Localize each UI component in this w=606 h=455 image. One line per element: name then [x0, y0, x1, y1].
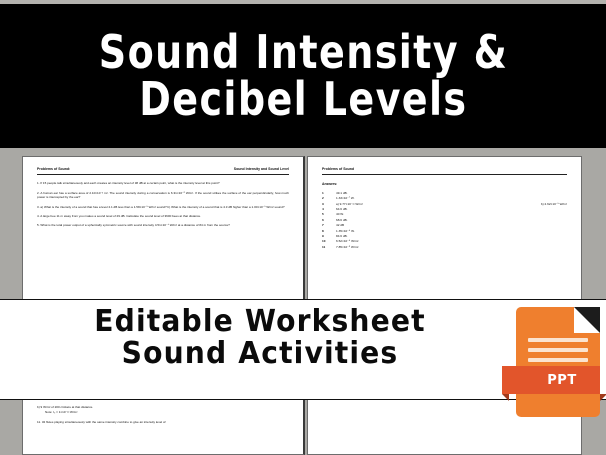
answer-row: 11 7.85×10⁻⁵ W/m² — [322, 245, 567, 250]
ppt-ribbon-shadow-right — [600, 394, 606, 401]
answer-page-header: Problems of Sound — [322, 167, 567, 175]
ppt-file-icon: PPT — [516, 307, 600, 417]
poster-title-line-1: Sound Intensity & — [98, 30, 507, 75]
worksheet-bottom-note: Note: I₀ = 1×10⁻¹² W/m² — [45, 410, 289, 415]
worksheet-question: 2. A human ear has a surface area of 2.1… — [37, 191, 289, 200]
worksheet-header-left: Problems of Sound: — [37, 167, 70, 172]
worksheet-page-left-bottom[interactable]: b) 9 W/m² of 200 crickets at that distan… — [22, 400, 305, 455]
worksheet-header-right: Sound Intensity and Sound Level — [234, 167, 289, 172]
ppt-icon-text-lines — [528, 338, 588, 368]
worksheet-question: 4. A large bee 11 m away from you makes … — [37, 214, 289, 219]
worksheet-question: 5. What is the total power output of a s… — [37, 223, 289, 228]
answer-number: 11 — [322, 245, 336, 250]
ppt-icon-ribbon: PPT — [502, 366, 600, 394]
poster-root: Sound Intensity & Decibel Levels Problem… — [0, 0, 606, 455]
worksheet-question: 1. If 15 people talk simultaneously and … — [37, 181, 289, 186]
banner-line-2: Sound Activities — [16, 338, 505, 370]
answer-page-title: Problems of Sound — [322, 167, 354, 172]
ppt-ribbon-shadow-left — [502, 394, 509, 401]
banner-text-block: Editable Worksheet Sound Activities — [0, 306, 520, 370]
answer-value: 7.85×10⁻⁵ W/m² — [336, 245, 567, 250]
overlay-banner: Editable Worksheet Sound Activities PPT — [0, 299, 606, 400]
answers-label: Answers: — [322, 182, 567, 187]
worksheet-bottom-question: 11. 32 flutes playing simultaneously wit… — [37, 420, 289, 425]
worksheet-header: Problems of Sound: Sound Intensity and S… — [37, 167, 289, 175]
title-band: Sound Intensity & Decibel Levels — [0, 4, 606, 148]
ppt-icon-folded-corner — [574, 307, 600, 333]
ppt-badge-label: PPT — [525, 373, 576, 388]
banner-line-1: Editable Worksheet — [16, 306, 505, 338]
poster-title-line-2: Decibel Levels — [139, 77, 467, 122]
worksheet-question: 3. a) What is the intensity of a sound t… — [37, 205, 289, 210]
